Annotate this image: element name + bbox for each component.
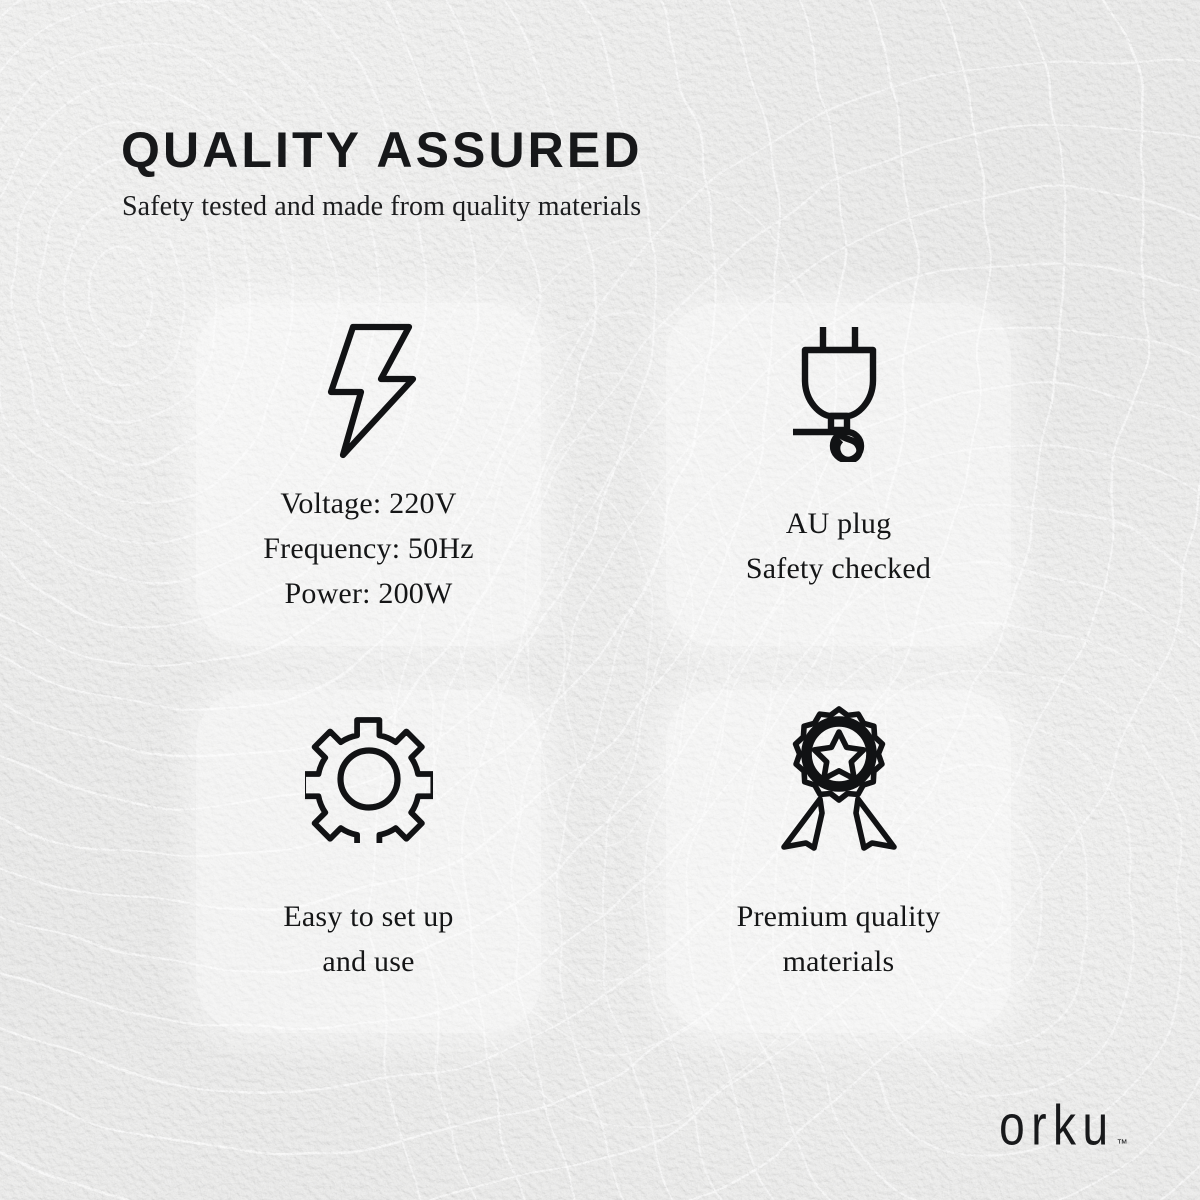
feature-card-plug: AU plug Safety checked	[666, 303, 1011, 646]
feature-card-text: AU plug Safety checked	[746, 501, 931, 591]
power-plug-icon	[779, 303, 899, 481]
trademark-symbol: ™	[1117, 1139, 1128, 1150]
feature-card-text: Premium quality materials	[737, 894, 941, 984]
feature-card-setup: Easy to set up and use	[196, 690, 541, 1033]
header: QUALITY ASSURED Safety tested and made f…	[121, 122, 1021, 223]
brand-logo: orku ™	[999, 1107, 1128, 1153]
feature-card-text: Easy to set up and use	[283, 894, 453, 984]
award-ribbon-icon	[776, 690, 902, 868]
feature-card-voltage: Voltage: 220V Frequency: 50Hz Power: 200…	[196, 303, 541, 646]
brand-name: orku	[999, 1097, 1114, 1153]
feature-card-quality: Premium quality materials	[666, 690, 1011, 1033]
feature-card-grid: Voltage: 220V Frequency: 50Hz Power: 200…	[196, 303, 1011, 1003]
page-subtitle: Safety tested and made from quality mate…	[122, 191, 1021, 223]
feature-card-text: Voltage: 220V Frequency: 50Hz Power: 200…	[263, 481, 473, 616]
gear-icon	[305, 690, 433, 868]
poster: QUALITY ASSURED Safety tested and made f…	[0, 0, 1200, 1200]
page-title: QUALITY ASSURED	[121, 122, 1021, 178]
lightning-bolt-icon	[317, 303, 421, 479]
